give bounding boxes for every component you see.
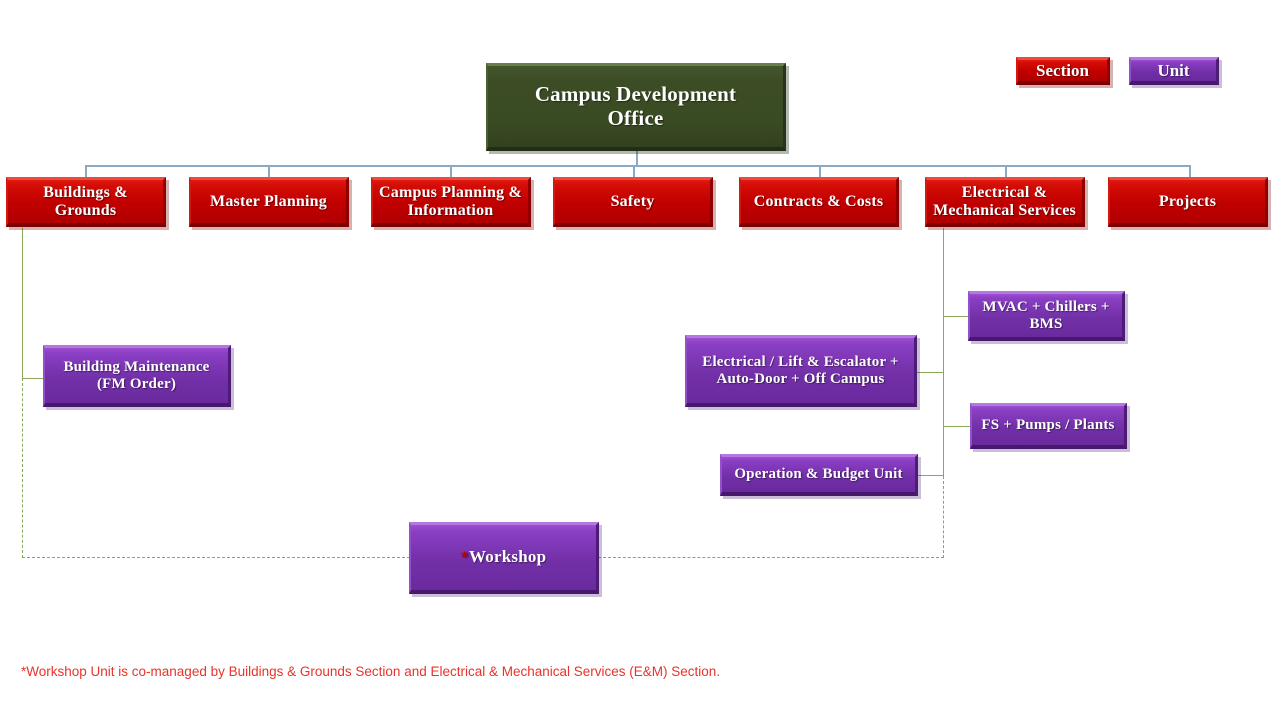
node-line-2: Mechanical Services bbox=[933, 202, 1076, 219]
node-master-planning[interactable]: Master Planning bbox=[189, 177, 349, 227]
node-line-1: Operation & Budget Unit bbox=[734, 466, 902, 482]
footnote-workshop-comanaged: *Workshop Unit is co-managed by Building… bbox=[21, 664, 720, 679]
node-campus-development-office[interactable]: Campus Development Office bbox=[486, 63, 786, 151]
node-line-1: Electrical / Lift & Escalator + bbox=[702, 354, 899, 370]
node-line-1: Campus Planning & bbox=[379, 184, 522, 201]
node-label: FS + Pumps / Plants bbox=[978, 417, 1118, 434]
node-label: Electrical & Mechanical Services bbox=[933, 184, 1076, 220]
node-label: Master Planning bbox=[197, 193, 340, 211]
org-chart-canvas: Section Unit Campus Development Office B… bbox=[0, 0, 1280, 720]
node-mvac-chillers-bms[interactable]: MVAC + Chillers + BMS bbox=[968, 291, 1125, 341]
legend-section-label: Section bbox=[1036, 61, 1089, 81]
connector-branch-operation-and-budget-unit bbox=[917, 475, 943, 476]
connector-trunk-workshop-left-dashed bbox=[22, 378, 23, 558]
node-label: *Workshop bbox=[417, 547, 590, 567]
legend-section-box: Section bbox=[1016, 57, 1110, 85]
connector-branch-workshop-right-dashed bbox=[598, 557, 944, 558]
connector-drop-projects bbox=[1189, 165, 1191, 177]
connector-branch-mvac-chillers-bms bbox=[943, 316, 969, 317]
connector-drop-safety bbox=[633, 165, 635, 177]
workshop-asterisk: * bbox=[461, 549, 469, 566]
node-safety[interactable]: Safety bbox=[553, 177, 713, 227]
node-line-1: FS + Pumps / Plants bbox=[981, 417, 1114, 433]
node-line-1: MVAC + Chillers + bbox=[982, 299, 1109, 315]
node-label: Electrical / Lift & Escalator + Auto-Doo… bbox=[693, 354, 908, 388]
node-line-2: Information bbox=[408, 202, 494, 219]
node-label: Buildings & Grounds bbox=[14, 184, 157, 220]
node-label: Building Maintenance (FM Order) bbox=[51, 359, 222, 393]
connector-trunk-workshop-right-dashed bbox=[943, 476, 944, 558]
node-label: MVAC + Chillers + BMS bbox=[976, 299, 1116, 333]
node-line-1: Projects bbox=[1159, 193, 1216, 210]
node-line-2: Auto-Door + Off Campus bbox=[716, 371, 884, 387]
connector-branch-fs-pumps-plants bbox=[943, 426, 971, 427]
connector-branch-building-maintenance bbox=[22, 378, 44, 379]
node-line-1: Electrical & bbox=[962, 184, 1047, 201]
connector-branch-electrical-lift-escalator bbox=[917, 372, 943, 373]
connector-drop-contracts-and-costs bbox=[819, 165, 821, 177]
connector-root-stem bbox=[636, 151, 638, 166]
node-label: Safety bbox=[561, 193, 704, 211]
node-line-1: Master Planning bbox=[210, 193, 327, 210]
connector-drop-electrical-and-mechanical bbox=[1005, 165, 1007, 177]
node-label: Campus Planning & Information bbox=[379, 184, 522, 220]
root-line-1: Campus Development bbox=[535, 82, 736, 106]
node-line-1: Buildings & Grounds bbox=[43, 184, 127, 219]
node-line-1: Workshop bbox=[469, 547, 546, 566]
connector-drop-buildings-and-grounds bbox=[85, 165, 87, 177]
node-label: Campus Development Office bbox=[494, 83, 777, 130]
connector-trunk-electrical-and-mechanical bbox=[943, 228, 944, 476]
node-buildings-and-grounds[interactable]: Buildings & Grounds bbox=[6, 177, 166, 227]
connector-section-bus bbox=[85, 165, 1190, 167]
connector-drop-master-planning bbox=[268, 165, 270, 177]
root-line-2: Office bbox=[608, 106, 664, 130]
node-line-1: Contracts & Costs bbox=[754, 193, 884, 210]
node-line-2: BMS bbox=[1029, 316, 1062, 332]
node-label: Contracts & Costs bbox=[747, 193, 890, 211]
legend-unit-box: Unit bbox=[1129, 57, 1219, 85]
node-building-maintenance[interactable]: Building Maintenance (FM Order) bbox=[43, 345, 231, 407]
legend-unit-label: Unit bbox=[1157, 61, 1189, 81]
node-projects[interactable]: Projects bbox=[1108, 177, 1268, 227]
node-operation-and-budget-unit[interactable]: Operation & Budget Unit bbox=[720, 454, 918, 496]
connector-branch-workshop-left-dashed bbox=[22, 557, 410, 558]
connector-trunk-buildings-and-grounds bbox=[22, 228, 23, 378]
node-contracts-and-costs[interactable]: Contracts & Costs bbox=[739, 177, 899, 227]
node-label: Projects bbox=[1116, 193, 1259, 211]
node-line-2: (FM Order) bbox=[97, 376, 176, 392]
node-line-1: Safety bbox=[611, 193, 655, 210]
node-campus-planning-and-information[interactable]: Campus Planning & Information bbox=[371, 177, 531, 227]
node-workshop[interactable]: *Workshop bbox=[409, 522, 599, 594]
node-electrical-and-mechanical-services[interactable]: Electrical & Mechanical Services bbox=[925, 177, 1085, 227]
node-electrical-lift-escalator[interactable]: Electrical / Lift & Escalator + Auto-Doo… bbox=[685, 335, 917, 407]
node-line-1: Building Maintenance bbox=[63, 359, 209, 375]
node-label: Operation & Budget Unit bbox=[728, 466, 909, 483]
connector-drop-campus-planning bbox=[450, 165, 452, 177]
node-fs-pumps-plants[interactable]: FS + Pumps / Plants bbox=[970, 403, 1127, 449]
